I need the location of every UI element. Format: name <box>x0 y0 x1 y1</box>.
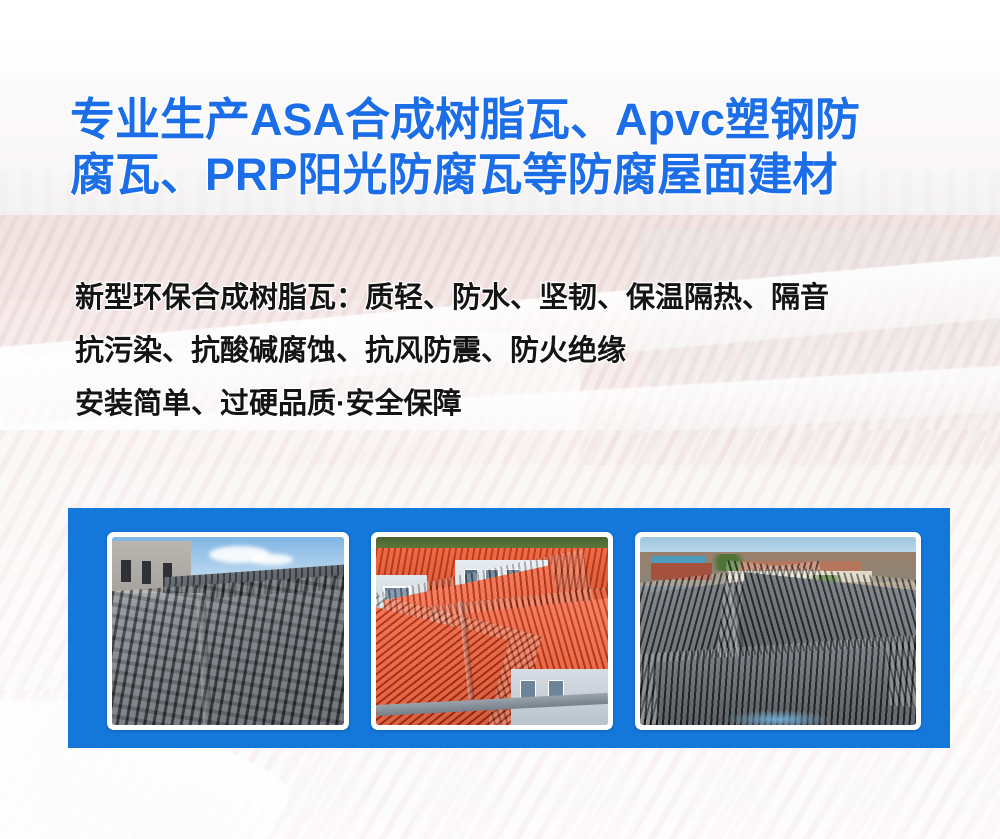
photo1-window <box>121 560 130 583</box>
subtitle-line-1: 新型环保合成树脂瓦：质轻、防水、坚韧、保温隔热、隔音 <box>75 272 955 325</box>
photo-gallery-panel <box>68 508 950 748</box>
red-resin-tile-roof-image <box>376 537 608 725</box>
photo1-window <box>142 561 151 584</box>
gallery-photo-2[interactable] <box>371 532 613 730</box>
photo1-main-roof <box>112 588 344 725</box>
banner-headline: 专业生产ASA合成树脂瓦、Apvc塑钢防腐瓦、PRP阳光防腐瓦等防腐屋面建材 <box>70 92 950 202</box>
headline-line-2: 腐瓦、PRP阳光防腐瓦等防腐屋面建材 <box>70 149 838 200</box>
photo3-highlight <box>723 710 833 725</box>
gallery-photo-3[interactable] <box>635 532 921 730</box>
photo1-cloud <box>251 554 293 565</box>
subtitle-line-3: 安装简单、过硬品质·安全保障 <box>75 378 955 431</box>
subtitle-line-2: 抗污染、抗酸碱腐蚀、抗风防震、防火绝缘 <box>75 325 955 378</box>
photo1-main-roof-texture <box>112 570 344 725</box>
banner-subtitle: 新型环保合成树脂瓦：质轻、防水、坚韧、保温隔热、隔音 抗污染、抗酸碱腐蚀、抗风防… <box>75 272 955 431</box>
black-resin-tile-roof-image <box>640 537 916 725</box>
grey-resin-tile-roof-image <box>112 537 344 725</box>
headline-line-1: 专业生产ASA合成树脂瓦、Apvc塑钢防 <box>70 94 860 145</box>
gallery-photo-1[interactable] <box>107 532 349 730</box>
product-promo-banner: 专业生产ASA合成树脂瓦、Apvc塑钢防腐瓦、PRP阳光防腐瓦等防腐屋面建材 新… <box>0 0 1000 839</box>
